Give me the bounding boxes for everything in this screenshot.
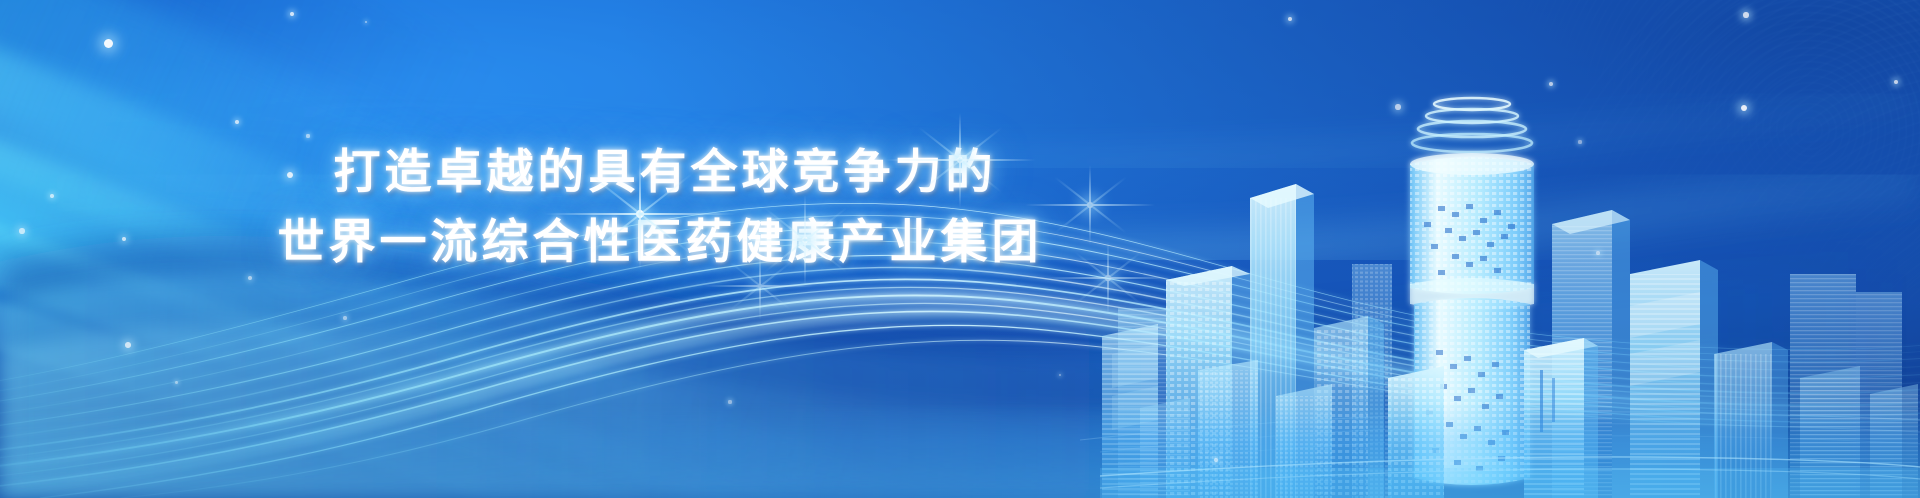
- sparkle-particle: [365, 21, 368, 24]
- flare-core: [758, 284, 763, 289]
- sparkle-particle: [306, 134, 309, 137]
- sparkle-particle: [290, 12, 294, 16]
- sparkle-particle: [104, 39, 113, 48]
- sparkle-particle: [175, 381, 178, 384]
- headline-line-1: 打造卓越的具有全球竞争力的: [0, 142, 1320, 204]
- tower-crown-rings: [1412, 98, 1532, 152]
- sparkle-particle: [1288, 17, 1292, 21]
- sparkle-particle: [235, 120, 239, 124]
- sparkle-particle: [1059, 374, 1062, 377]
- flare-horizontal-streak: [705, 285, 815, 287]
- sparkle-particle: [248, 276, 252, 280]
- sparkle-particle: [125, 342, 131, 348]
- sparkle-particle: [343, 316, 347, 320]
- hero-banner: 打造卓越的具有全球竞争力的 世界一流综合性医药健康产业集团: [0, 0, 1920, 498]
- headline-line-2: 世界一流综合性医药健康产业集团: [0, 212, 1320, 274]
- headline-block: 打造卓越的具有全球竞争力的 世界一流综合性医药健康产业集团: [0, 142, 1320, 274]
- water-floor: [0, 403, 1920, 498]
